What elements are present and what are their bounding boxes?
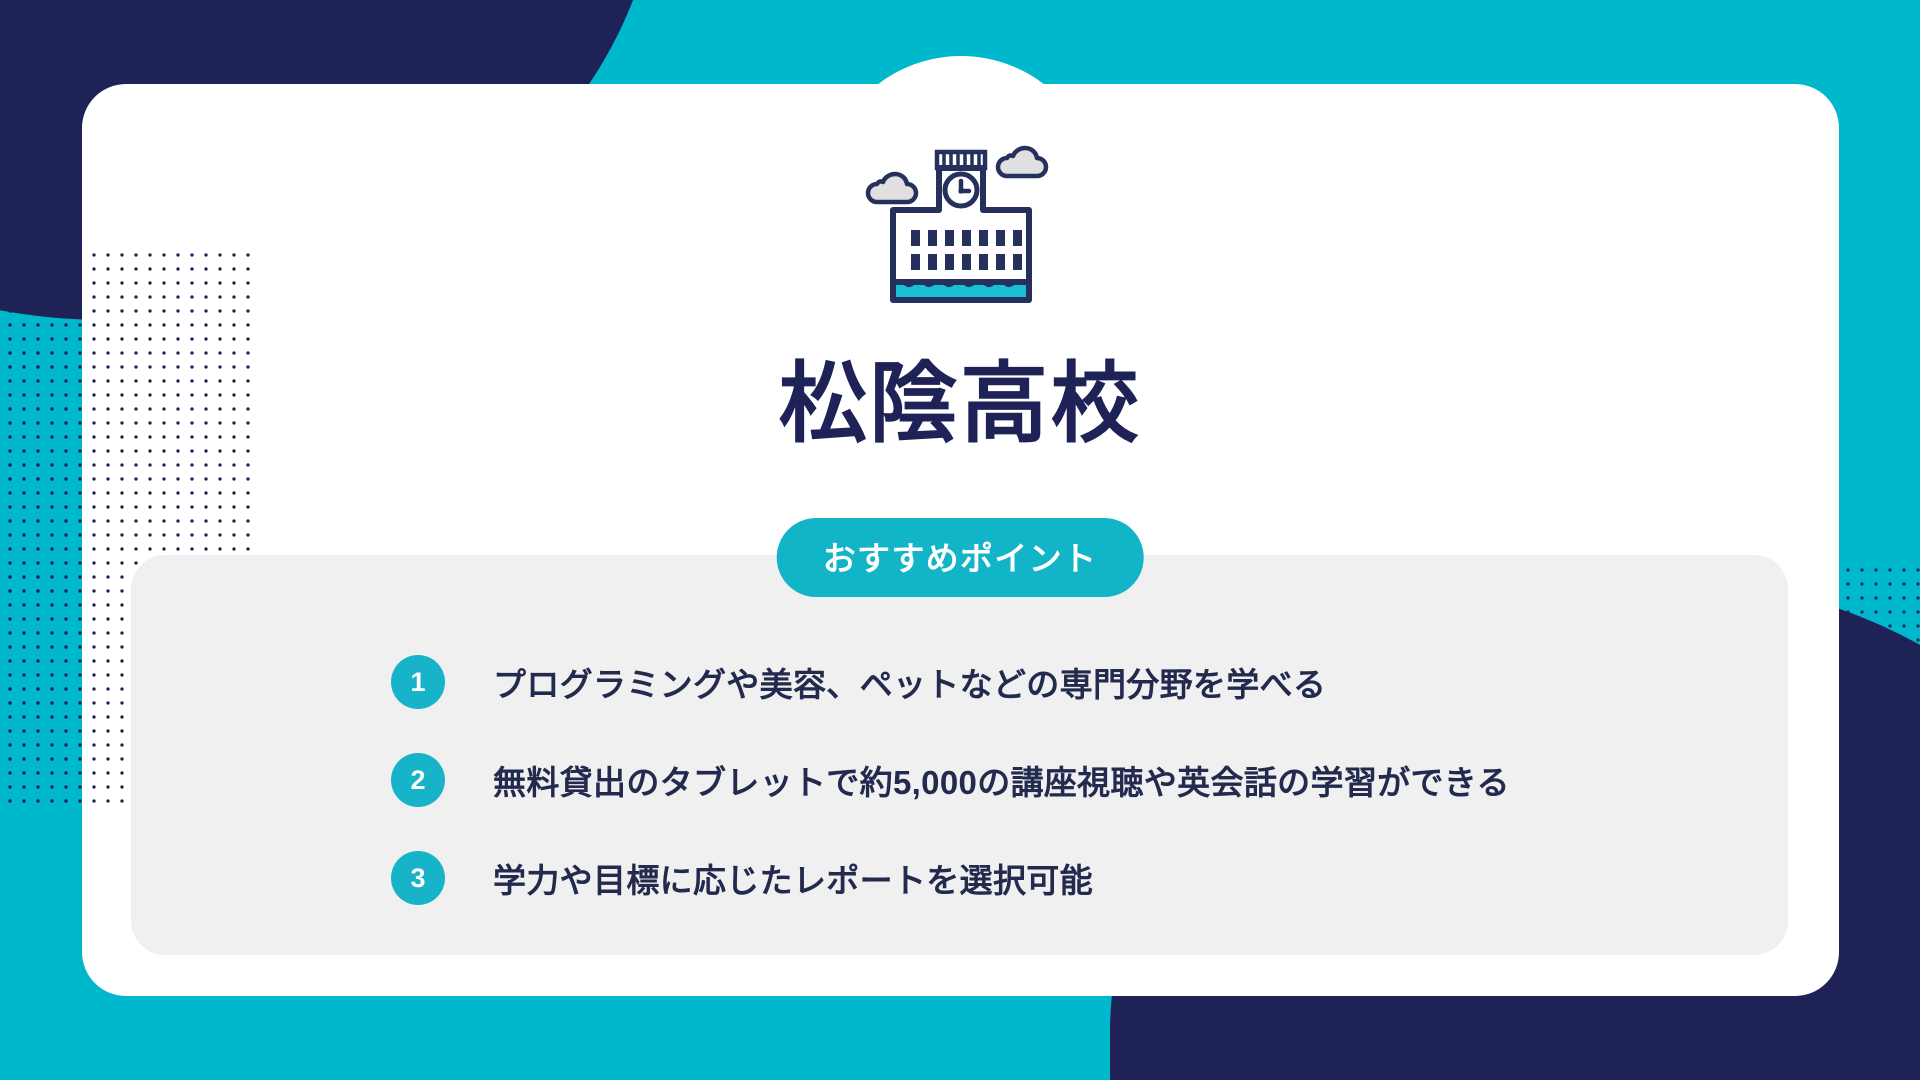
point-text: プログラミングや美容、ペットなどの専門分野を学べる — [493, 658, 1326, 706]
point-text: 学力や目標に応じたレポートを選択可能 — [493, 854, 1093, 902]
status-badge: おすすめポイント — [777, 518, 1144, 597]
point-text: 無料貸出のタブレットで約5,000の講座視聴や英会話の学習ができる — [493, 756, 1510, 804]
point-number-badge: 2 — [391, 753, 445, 807]
recommended-points-panel: 1 プログラミングや美容、ペットなどの専門分野を学べる 2 無料貸出のタブレット… — [131, 555, 1788, 955]
point-number-badge: 1 — [391, 655, 445, 709]
point-number-badge: 3 — [391, 851, 445, 905]
list-item: 2 無料貸出のタブレットで約5,000の講座視聴や英会話の学習ができる — [131, 731, 1788, 829]
page-title: 松陰高校 — [0, 360, 1920, 448]
list-item: 1 プログラミングや美容、ペットなどの専門分野を学べる — [131, 633, 1788, 731]
list-item: 3 学力や目標に応じたレポートを選択可能 — [131, 829, 1788, 927]
slide-canvas: 松陰高校 1 プログラミングや美容、ペットなどの専門分野を学べる 2 無料貸出の… — [0, 0, 1920, 1080]
school-building-icon — [855, 136, 1065, 311]
